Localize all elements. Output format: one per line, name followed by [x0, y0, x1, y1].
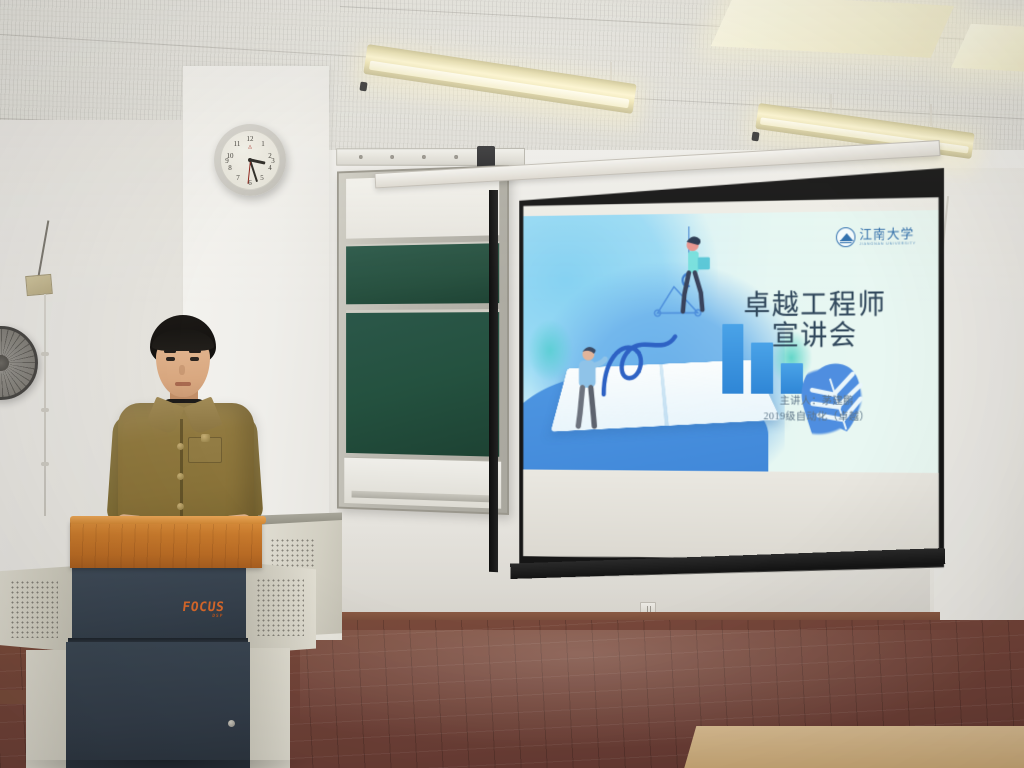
slide-subtitle-line-1: 主讲人：茅建鹏: [716, 394, 919, 409]
presenter: [92, 315, 282, 545]
screen-left-edge: [489, 190, 498, 572]
rail-screw: [359, 155, 363, 159]
presenter-eyebrow-right: [189, 350, 201, 353]
right-wall: [934, 168, 1024, 688]
cable-clip: [41, 408, 49, 412]
fan-hub: [0, 355, 9, 371]
blackboard: [327, 165, 509, 515]
lectern-front-panel-lower: [66, 642, 250, 768]
presenter-jacket-button: [177, 503, 184, 510]
university-name-en: JIANGNAN UNIVERSITY: [859, 242, 916, 246]
junction-box: [25, 274, 53, 296]
floor-light-strip: [684, 726, 1024, 768]
lectern-side-panel-right: [242, 562, 316, 654]
rail-screw: [422, 155, 426, 159]
slide-title-line-1: 卓越工程师: [710, 289, 922, 321]
lectern-lock[interactable]: [228, 720, 235, 727]
cable-clip: [41, 462, 49, 466]
presenter-jacket-button: [177, 473, 184, 480]
lectern-speaker-grille-right: [256, 578, 304, 636]
slide-illustration-bar-3: [781, 363, 803, 394]
lectern-speaker-grille-left: [10, 580, 58, 638]
light-end-cap: [751, 132, 759, 142]
clock-numeral-11: 11: [208, 140, 266, 148]
light-end-cap: [359, 82, 367, 92]
slide-subtitle-line-2: 2019级自动化（卓越）: [716, 409, 919, 425]
presenter-nose: [179, 365, 185, 375]
classroom-scene: ◬ 12 1 2 3 4 5 6 7 8 9 10 11: [0, 0, 1024, 768]
lectern: FOCUS DSP: [0, 512, 340, 768]
university-emblem-icon: [836, 227, 855, 247]
lectern-side-panel-left: [0, 566, 76, 652]
blackboard-frame: [337, 165, 509, 515]
chalk-tray-lip: [352, 491, 492, 503]
wall-clock: ◬ 12 1 2 3 4 5 6 7 8 9 10 11: [214, 124, 286, 196]
presenter-eye-right: [190, 357, 199, 361]
rail-screw: [454, 155, 458, 159]
lectern-wood-top: [70, 520, 262, 568]
wall-cable: [44, 294, 46, 516]
presenter-eyebrow-left: [164, 350, 176, 353]
lectern-brand-text: FOCUS: [181, 600, 225, 615]
chalk-tray: [344, 457, 501, 509]
lectern-floor-shadow: [16, 760, 316, 768]
presentation-slide: 江南大学 JIANGNAN UNIVERSITY 卓越工程师 宣讲会 主讲人：茅…: [522, 210, 939, 473]
presenter-jacket-button: [177, 443, 184, 450]
university-name-cn: 江南大学: [859, 227, 916, 241]
screen-blank-area: [522, 470, 939, 563]
presenter-eye-left: [166, 357, 175, 361]
lectern-brand-logo: FOCUS DSP: [181, 600, 225, 619]
slide-title: 卓越工程师 宣讲会: [710, 289, 922, 352]
slide-title-line-2: 宣讲会: [710, 321, 922, 353]
cable-clip: [41, 352, 49, 356]
blackboard-green-panel-lower: [346, 309, 499, 457]
clock-center-pin: [248, 158, 252, 162]
wood-grain-texture: [70, 520, 262, 568]
clock-numeral-7: 7: [209, 174, 267, 182]
projection-screen-canvas: 江南大学 JIANGNAN UNIVERSITY 卓越工程师 宣讲会 主讲人：茅…: [522, 197, 939, 563]
slide-illustration-writer-figure: [562, 343, 611, 430]
rail-screw: [390, 155, 394, 159]
clock-face: ◬ 12 1 2 3 4 5 6 7 8 9 10 11: [220, 130, 280, 190]
blackboard-top-rail: [336, 148, 525, 166]
university-logo: 江南大学 JIANGNAN UNIVERSITY: [836, 226, 916, 247]
projection-screen: 江南大学 JIANGNAN UNIVERSITY 卓越工程师 宣讲会 主讲人：茅…: [510, 168, 944, 586]
presenter-chest-pocket: [188, 437, 222, 463]
lectern-base-right: [244, 648, 290, 768]
lectern-wood-top-edge: [70, 516, 266, 524]
presenter-mouth: [175, 382, 191, 386]
slide-subtitle: 主讲人：茅建鹏 2019级自动化（卓越）: [716, 394, 919, 425]
light-stem: [930, 104, 932, 126]
blackboard-green-panel-upper: [346, 241, 499, 304]
